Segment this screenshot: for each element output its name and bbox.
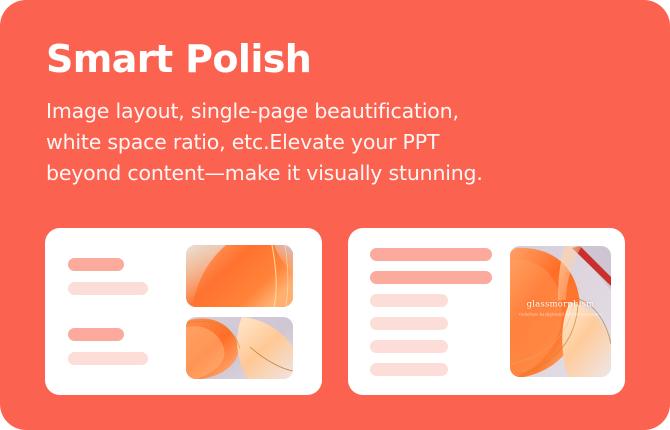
preview-cards-row: glassmorphism Colorless background soft … <box>45 228 625 395</box>
placeholder-bar <box>68 352 148 365</box>
placeholder-bar <box>370 248 492 261</box>
slide-preview-card-right[interactable]: glassmorphism Colorless background soft … <box>348 228 625 395</box>
header-block: Smart Polish Image layout, single-page b… <box>46 36 626 189</box>
placeholder-bar <box>370 363 448 376</box>
promo-banner: Smart Polish Image layout, single-page b… <box>0 0 670 430</box>
glassmorphism-thumb-graphic <box>510 246 611 377</box>
slide-preview-card-left[interactable] <box>45 228 322 395</box>
placeholder-bar <box>68 328 124 341</box>
gradient-thumb-bottom-image[interactable] <box>186 317 293 379</box>
placeholder-bar <box>68 282 148 295</box>
placeholder-bar-group <box>68 258 186 295</box>
thumbnail-column: glassmorphism Colorless background soft … <box>510 228 611 395</box>
page-subtitle: Image layout, single-page beautification… <box>46 96 626 189</box>
page-title: Smart Polish <box>46 36 626 82</box>
placeholder-text-column <box>348 228 510 395</box>
placeholder-bar <box>370 317 448 330</box>
glassmorphism-thumb-image[interactable]: glassmorphism Colorless background soft … <box>510 246 611 377</box>
placeholder-bar <box>370 340 448 353</box>
placeholder-bar <box>68 258 124 271</box>
placeholder-bar <box>370 271 492 284</box>
placeholder-text-column <box>45 228 186 395</box>
gradient-thumb-top-image[interactable] <box>186 245 293 307</box>
placeholder-bar-group <box>68 328 186 365</box>
placeholder-bar <box>370 294 448 307</box>
gradient-thumb-top-graphic <box>186 245 293 307</box>
gradient-thumb-bottom-graphic <box>186 317 293 379</box>
thumbnail-column <box>186 228 293 395</box>
